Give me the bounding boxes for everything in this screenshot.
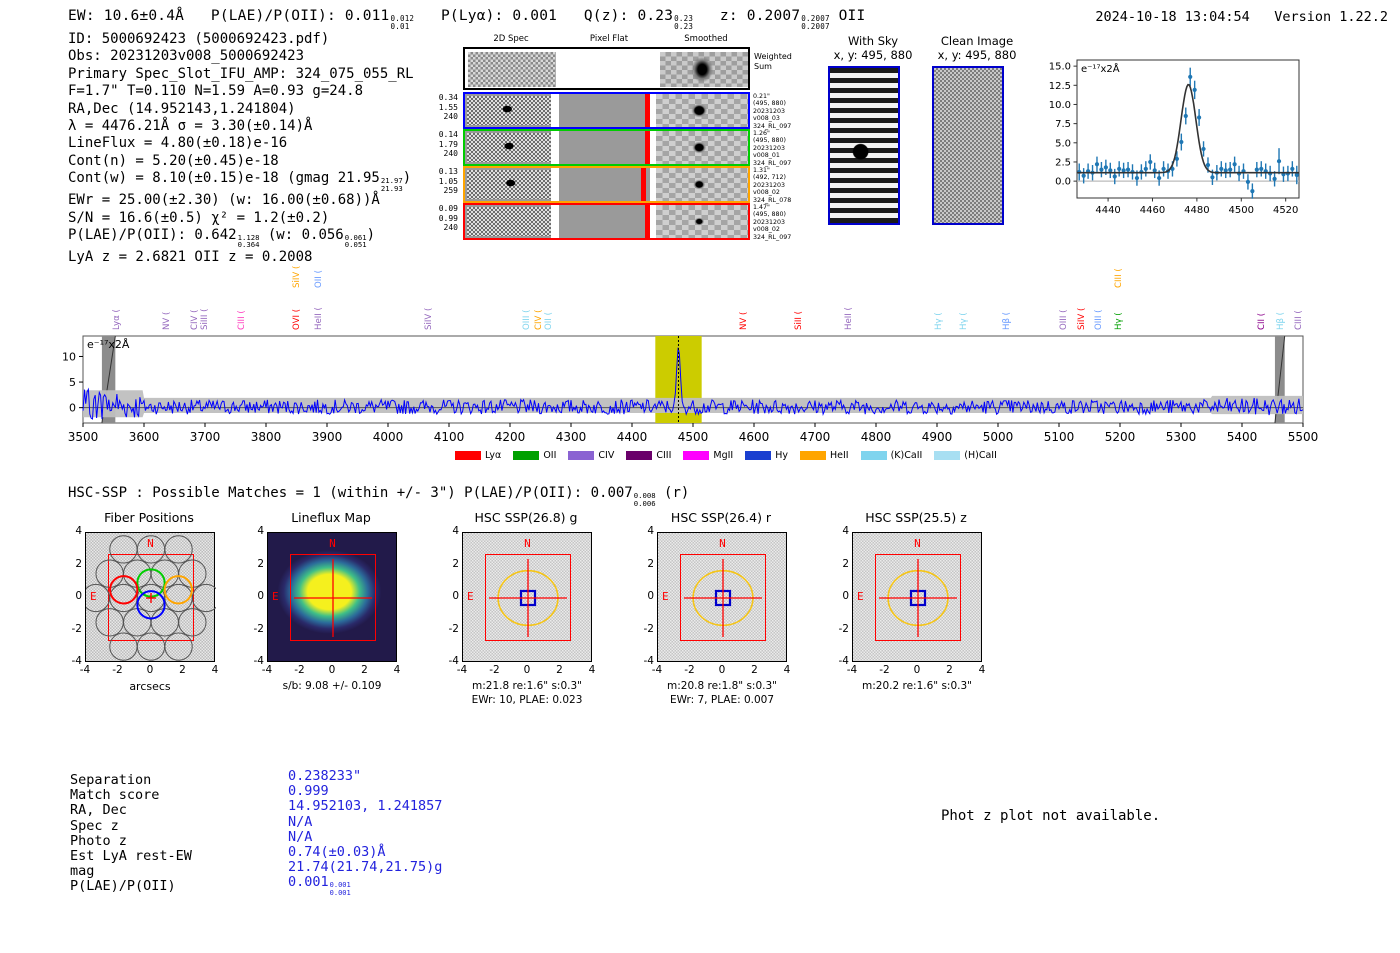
match-value: 0.999	[288, 784, 442, 799]
match-value: 0.0010.0010.001	[288, 875, 442, 895]
x-tick: 0	[141, 664, 159, 676]
row-number: 240	[428, 223, 458, 233]
cutout-caption: m:20.8 re:1.8" s:0.3"	[637, 680, 807, 692]
svg-text:3700: 3700	[190, 430, 221, 444]
row-pixelflat	[559, 205, 645, 238]
cutout-panel: HSC SSP(26.4) rNE-4-2024420-2-4m:20.8 re…	[635, 510, 795, 525]
spec2d-row-numbers: 0.341.552400.141.792400.131.052590.090.9…	[428, 92, 460, 242]
svg-text:4100: 4100	[434, 430, 465, 444]
row-pixelflat	[559, 94, 645, 127]
cutout-x-axis: -4-2024	[85, 662, 215, 678]
legend-label: CIII	[656, 450, 671, 461]
y-tick: -2	[830, 623, 849, 635]
marker-overlay	[853, 533, 983, 663]
cutout-panel: Fiber PositionsNE-4-2024420-2-4arcsecs	[63, 510, 223, 525]
y-tick: -4	[245, 655, 264, 667]
info-id: ID: 5000692423 (5000692423.pdf)	[68, 31, 414, 48]
svg-text:0: 0	[69, 402, 76, 415]
row-gap	[551, 131, 559, 164]
match-value: N/A	[288, 815, 442, 830]
y-tick: 4	[635, 525, 654, 537]
svg-text:15.0: 15.0	[1049, 62, 1071, 73]
row-2dspec	[467, 133, 551, 162]
row-meta-line: 1.26"	[753, 130, 811, 137]
with-sky-image	[828, 66, 900, 225]
row-pixelflat	[559, 168, 645, 201]
cutout-caption: m:20.2 re:1.6" s:0.3"	[832, 680, 1002, 692]
x-tick: 4	[973, 664, 991, 676]
row-number: 1.55	[428, 103, 458, 113]
clean-image	[932, 66, 1004, 225]
legend-label: MgII	[713, 450, 733, 461]
info-redshifts: LyA z = 2.6821 OII z = 0.2008	[68, 249, 414, 266]
x-tick: 2	[174, 664, 192, 676]
legend-swatch	[683, 451, 709, 460]
marker-overlay	[463, 533, 593, 663]
match-key: mag	[70, 864, 192, 879]
marker-overlay	[268, 533, 398, 663]
weighted-sum-smoothed	[660, 52, 748, 87]
row-2dspec	[467, 96, 551, 125]
timestamp-version: 2024-10-18 13:04:54 Version 1.22.2	[1095, 9, 1388, 25]
svg-text:4440: 4440	[1095, 205, 1120, 216]
info-plae: P(LAE)/P(OII): 0.6421.1280.364 (w: 0.056…	[68, 227, 414, 249]
cutout-title: HSC SSP(26.8) g	[452, 510, 600, 525]
row-meta-line: 20231203	[753, 108, 811, 115]
summary-header: EW: 10.6±0.4Å P(LAE)/P(OII): 0.0110.0120…	[68, 8, 865, 31]
svg-text:5: 5	[69, 376, 76, 389]
header-qz: Q(z): 0.23	[584, 8, 673, 24]
y-tick: 0	[635, 590, 654, 602]
row-number: 0.99	[428, 214, 458, 224]
spectrum-legend: LyαOIICIVCIIIMgIIHyHeII(K)CaII(H)CaII	[455, 445, 1009, 461]
cutout-title: HSC SSP(25.5) z	[842, 510, 990, 525]
row-numbers: 0.090.99240	[428, 204, 458, 233]
cutout-x-axis: -4-2024	[657, 662, 787, 678]
x-tick: 4	[388, 664, 406, 676]
line-profile-svg: 0.02.55.07.510.012.515.04440446044804500…	[1033, 52, 1305, 230]
y-tick: -4	[635, 655, 654, 667]
x-tick: 4	[778, 664, 796, 676]
spec2d-row-labels: 0.21"(495, 880)20231203v008_03324_RL_097…	[753, 92, 813, 242]
cutout-y-axis: 420-2-4	[63, 532, 83, 662]
match-key: Est LyA rest-EW	[70, 849, 192, 864]
row-number: 240	[428, 149, 458, 159]
row-meta: 1.47"(495, 880)20231203v008_02324_RL_097	[753, 204, 811, 241]
svg-text:5500: 5500	[1288, 430, 1319, 444]
spec2d-row	[463, 129, 750, 166]
match-value: N/A	[288, 830, 442, 845]
info-cont-w: Cont(w) = 8.10(±0.15)e-18 (gmag 21.9521.…	[68, 170, 414, 192]
svg-text:3800: 3800	[251, 430, 282, 444]
cutout-y-axis: 420-2-4	[245, 532, 265, 662]
svg-text:0.0: 0.0	[1055, 177, 1071, 188]
cutout-panel: HSC SSP(26.8) gNE-4-2024420-2-4m:21.8 re…	[440, 510, 600, 525]
cutout-y-axis: 420-2-4	[830, 532, 850, 662]
header-plae: P(LAE)/P(OII): 0.011	[211, 8, 390, 24]
match-value: 0.74(±0.03)Å	[288, 845, 442, 860]
x-tick: -2	[291, 664, 309, 676]
row-meta-line: (492, 712)	[753, 174, 811, 181]
y-tick: 4	[245, 525, 264, 537]
x-tick: -2	[681, 664, 699, 676]
cutout-y-axis: 420-2-4	[440, 532, 460, 662]
legend-label: OII	[543, 450, 556, 461]
y-tick: -2	[440, 623, 459, 635]
row-meta-line: (495, 880)	[753, 137, 811, 144]
y-tick: 2	[635, 558, 654, 570]
legend-label: CIV	[598, 450, 614, 461]
x-tick: -2	[109, 664, 127, 676]
with-sky-panel: With Sky x, y: 495, 880	[828, 34, 918, 225]
match-key: Photo z	[70, 834, 192, 849]
spec2d-row	[463, 203, 750, 240]
svg-text:5100: 5100	[1044, 430, 1075, 444]
y-tick: 0	[63, 590, 82, 602]
timestamp: 2024-10-18 13:04:54	[1095, 9, 1249, 25]
match-key: P(LAE)/P(OII)	[70, 879, 192, 894]
svg-text:4500: 4500	[678, 430, 709, 444]
row-meta-line: 324_RL_097	[753, 160, 811, 167]
header-z-species: OII	[839, 8, 866, 24]
x-tick: -2	[486, 664, 504, 676]
row-gap	[551, 205, 559, 238]
legend-label: Lyα	[485, 450, 501, 461]
row-smoothed	[656, 94, 748, 127]
weighted-sum-2dspec	[468, 52, 556, 87]
legend-label: Hy	[775, 450, 788, 461]
x-tick: 4	[206, 664, 224, 676]
svg-text:5400: 5400	[1227, 430, 1258, 444]
match-key: Spec z	[70, 819, 192, 834]
svg-text:5000: 5000	[983, 430, 1014, 444]
photz-note: Phot z plot not available.	[941, 808, 1160, 824]
x-tick: -2	[876, 664, 894, 676]
cutout-image[interactable]: NE	[462, 532, 592, 662]
info-primary-amp: Primary Spec_Slot_IFU_AMP: 324_075_055_R…	[68, 66, 414, 83]
row-meta-line: 20231203	[753, 182, 811, 189]
legend-label: HeII	[830, 450, 849, 461]
row-number: 0.34	[428, 93, 458, 103]
y-tick: -2	[63, 623, 82, 635]
x-tick: 2	[356, 664, 374, 676]
version-label: Version 1.22.2	[1274, 9, 1388, 25]
legend-swatch	[861, 451, 887, 460]
svg-text:4900: 4900	[922, 430, 953, 444]
y-tick: 4	[440, 525, 459, 537]
match-key: Separation	[70, 773, 192, 788]
svg-text:4000: 4000	[373, 430, 404, 444]
x-tick: 0	[323, 664, 341, 676]
y-tick: 0	[830, 590, 849, 602]
y-tick: 2	[245, 558, 264, 570]
y-tick: -4	[63, 655, 82, 667]
info-lambda: λ = 4476.21Å σ = 3.30(±0.14)Å	[68, 118, 414, 135]
cutout-title: Fiber Positions	[75, 510, 223, 525]
weighted-sum-panel	[463, 47, 750, 90]
row-smoothed	[656, 131, 748, 164]
y-tick: 0	[440, 590, 459, 602]
line-profile-plot: 0.02.55.07.510.012.515.04440446044804500…	[1033, 52, 1305, 234]
row-pixelflat	[559, 131, 645, 164]
svg-text:4700: 4700	[800, 430, 831, 444]
cutout-image[interactable]: NE	[85, 532, 215, 662]
row-marker-line	[641, 168, 646, 201]
svg-text:e⁻¹⁷x2Å: e⁻¹⁷x2Å	[1081, 62, 1120, 75]
legend-swatch	[455, 451, 481, 460]
info-radec: RA,Dec (14.952143,1.241804)	[68, 101, 414, 118]
header-plya: P(Lyα): 0.001	[441, 8, 557, 24]
row-number: 0.14	[428, 130, 458, 140]
info-obs: Obs: 20231203v008_5000692423	[68, 48, 414, 65]
cutout-caption: s/b: 9.08 +/- 0.109	[247, 680, 417, 692]
row-meta-line: 1.31"	[753, 167, 811, 174]
row-meta-line: (495, 880)	[753, 100, 811, 107]
row-2dspec	[467, 207, 551, 236]
row-number: 259	[428, 186, 458, 196]
x-tick: 0	[518, 664, 536, 676]
axis-label: arcsecs	[85, 680, 215, 693]
row-meta-line: v008_02	[753, 189, 811, 196]
svg-text:2.5: 2.5	[1055, 158, 1071, 169]
row-meta-line: 0.21"	[753, 93, 811, 100]
cutout-title: HSC SSP(26.4) r	[647, 510, 795, 525]
svg-text:4500: 4500	[1229, 205, 1254, 216]
cutout-panel: Lineflux MapNE-4-2024420-2-4s/b: 9.08 +/…	[245, 510, 405, 525]
y-tick: 2	[830, 558, 849, 570]
row-meta-line: 324_RL_078	[753, 197, 811, 204]
row-meta-line: v008_01	[753, 152, 811, 159]
row-gap	[551, 94, 559, 127]
spec2d-row	[463, 92, 750, 129]
row-meta-line: 1.47"	[753, 204, 811, 211]
svg-text:12.5: 12.5	[1049, 81, 1071, 92]
x-tick: 2	[551, 664, 569, 676]
row-smoothed	[656, 168, 748, 201]
info-seeing: F=1.7" T=0.110 N=1.59 A=0.93 g=24.8	[68, 83, 414, 100]
svg-text:4480: 4480	[1184, 205, 1209, 216]
info-ewr: EWr = 25.00(±2.30) (w: 16.00(±0.68))Å	[68, 192, 414, 209]
fiber-layout	[86, 533, 216, 663]
svg-text:3600: 3600	[129, 430, 160, 444]
row-meta-line: v008_02	[753, 226, 811, 233]
row-numbers: 0.131.05259	[428, 167, 458, 196]
spec2d-column-headers: 2D Spec Pixel Flat Smoothed	[463, 34, 753, 48]
y-tick: 4	[63, 525, 82, 537]
svg-text:4460: 4460	[1140, 205, 1165, 216]
x-tick: 0	[908, 664, 926, 676]
row-meta-line: 324_RL_097	[753, 123, 811, 130]
match-table-values: 0.238233"0.99914.952103, 1.241857N/AN/A0…	[288, 769, 442, 896]
legend-swatch	[934, 451, 960, 460]
legend-swatch	[513, 451, 539, 460]
y-tick: -2	[245, 623, 264, 635]
header-z: z: 0.2007	[720, 8, 800, 24]
svg-text:3500: 3500	[68, 430, 99, 444]
match-value: 21.74(21.74,21.75)g	[288, 860, 442, 875]
svg-text:7.5: 7.5	[1055, 119, 1071, 130]
row-meta-line: v008_03	[753, 115, 811, 122]
row-meta-line: (495, 880)	[753, 211, 811, 218]
row-number: 0.09	[428, 204, 458, 214]
match-value: 0.238233"	[288, 769, 442, 784]
row-meta-line: 20231203	[753, 219, 811, 226]
match-key: Match score	[70, 788, 192, 803]
svg-text:4400: 4400	[617, 430, 648, 444]
cutout-caption: m:21.8 re:1.6" s:0.3"	[442, 680, 612, 692]
legend-swatch	[568, 451, 594, 460]
svg-text:e⁻¹⁷x2Å: e⁻¹⁷x2Å	[87, 338, 130, 351]
svg-text:10: 10	[62, 350, 76, 363]
cutout-caption: EWr: 7, PLAE: 0.007	[637, 694, 807, 706]
match-key: RA, Dec	[70, 803, 192, 818]
hscssp-header: HSC-SSP : Possible Matches = 1 (within +…	[68, 485, 689, 507]
row-meta: 0.21"(495, 880)20231203v008_03324_RL_097	[753, 93, 811, 130]
match-table-keys: SeparationMatch scoreRA, DecSpec zPhoto …	[70, 773, 192, 895]
row-number: 0.13	[428, 167, 458, 177]
spec2d-rows	[463, 92, 753, 242]
row-numbers: 0.341.55240	[428, 93, 458, 122]
cutout-image[interactable]: NE	[657, 532, 787, 662]
y-tick: -4	[440, 655, 459, 667]
y-tick: 4	[830, 525, 849, 537]
row-meta-line: 20231203	[753, 145, 811, 152]
row-numbers: 0.141.79240	[428, 130, 458, 159]
cutout-image[interactable]: NE	[267, 532, 397, 662]
row-number: 1.79	[428, 140, 458, 150]
cutout-y-axis: 420-2-4	[635, 532, 655, 662]
x-tick: 0	[713, 664, 731, 676]
info-lineflux: LineFlux = 4.80(±0.18)e-16	[68, 135, 414, 152]
cutout-x-axis: -4-2024	[267, 662, 397, 678]
svg-text:4600: 4600	[739, 430, 770, 444]
row-meta: 1.31"(492, 712)20231203v008_02324_RL_078	[753, 167, 811, 204]
svg-text:5.0: 5.0	[1055, 138, 1071, 149]
legend-label: (K)CaII	[891, 450, 923, 461]
cutout-panel: HSC SSP(25.5) zNE-4-2024420-2-4m:20.2 re…	[830, 510, 990, 525]
row-smoothed	[656, 205, 748, 238]
svg-text:3900: 3900	[312, 430, 343, 444]
marker-overlay	[658, 533, 788, 663]
svg-text:4300: 4300	[556, 430, 587, 444]
spec2d-row	[463, 166, 750, 203]
cutout-x-axis: -4-2024	[462, 662, 592, 678]
x-tick: 2	[941, 664, 959, 676]
info-cont-n: Cont(n) = 5.20(±0.45)e-18	[68, 153, 414, 170]
header-ew: EW: 10.6±0.4Å	[68, 8, 184, 24]
svg-text:4520: 4520	[1273, 205, 1298, 216]
legend-swatch	[800, 451, 826, 460]
svg-text:5200: 5200	[1105, 430, 1136, 444]
row-meta-line: 324_RL_097	[753, 234, 811, 241]
row-number: 1.05	[428, 177, 458, 187]
svg-text:4800: 4800	[861, 430, 892, 444]
row-gap	[551, 168, 559, 201]
info-sn: S/N = 16.6(±0.5) χ² = 1.2(±0.2)	[68, 210, 414, 227]
full-spectrum-panel: Lyα (NV (CIV (SiIII (CIII (OVI (SiIV (He…	[0, 268, 1400, 468]
legend-swatch	[745, 451, 771, 460]
y-tick: 2	[440, 558, 459, 570]
source-info-block: ID: 5000692423 (5000692423.pdf) Obs: 202…	[68, 31, 414, 266]
row-number: 240	[428, 112, 458, 122]
cutout-x-axis: -4-2024	[852, 662, 982, 678]
legend-swatch	[626, 451, 652, 460]
cutout-title: Lineflux Map	[257, 510, 405, 525]
clean-image-panel: Clean Image x, y: 495, 880	[932, 34, 1022, 225]
full-spectrum-svg: 0510350036003700380039004000410042004300…	[0, 268, 1400, 468]
svg-text:4200: 4200	[495, 430, 526, 444]
svg-text:5300: 5300	[1166, 430, 1197, 444]
cutout-image[interactable]: NE	[852, 532, 982, 662]
svg-text:10.0: 10.0	[1049, 100, 1071, 111]
row-meta: 1.26"(495, 880)20231203v008_01324_RL_097	[753, 130, 811, 167]
y-tick: 0	[245, 590, 264, 602]
weighted-sum-label: Weighted Sum	[754, 52, 792, 72]
y-tick: -2	[635, 623, 654, 635]
cutout-caption: EWr: 10, PLAE: 0.023	[442, 694, 612, 706]
x-tick: 4	[583, 664, 601, 676]
y-tick: 2	[63, 558, 82, 570]
cutout-panels: Fiber PositionsNE-4-2024420-2-4arcsecsLi…	[0, 510, 1000, 725]
x-tick: 2	[746, 664, 764, 676]
match-value: 14.952103, 1.241857	[288, 799, 442, 814]
y-tick: -4	[830, 655, 849, 667]
row-2dspec	[467, 170, 551, 199]
legend-label: (H)CaII	[964, 450, 997, 461]
